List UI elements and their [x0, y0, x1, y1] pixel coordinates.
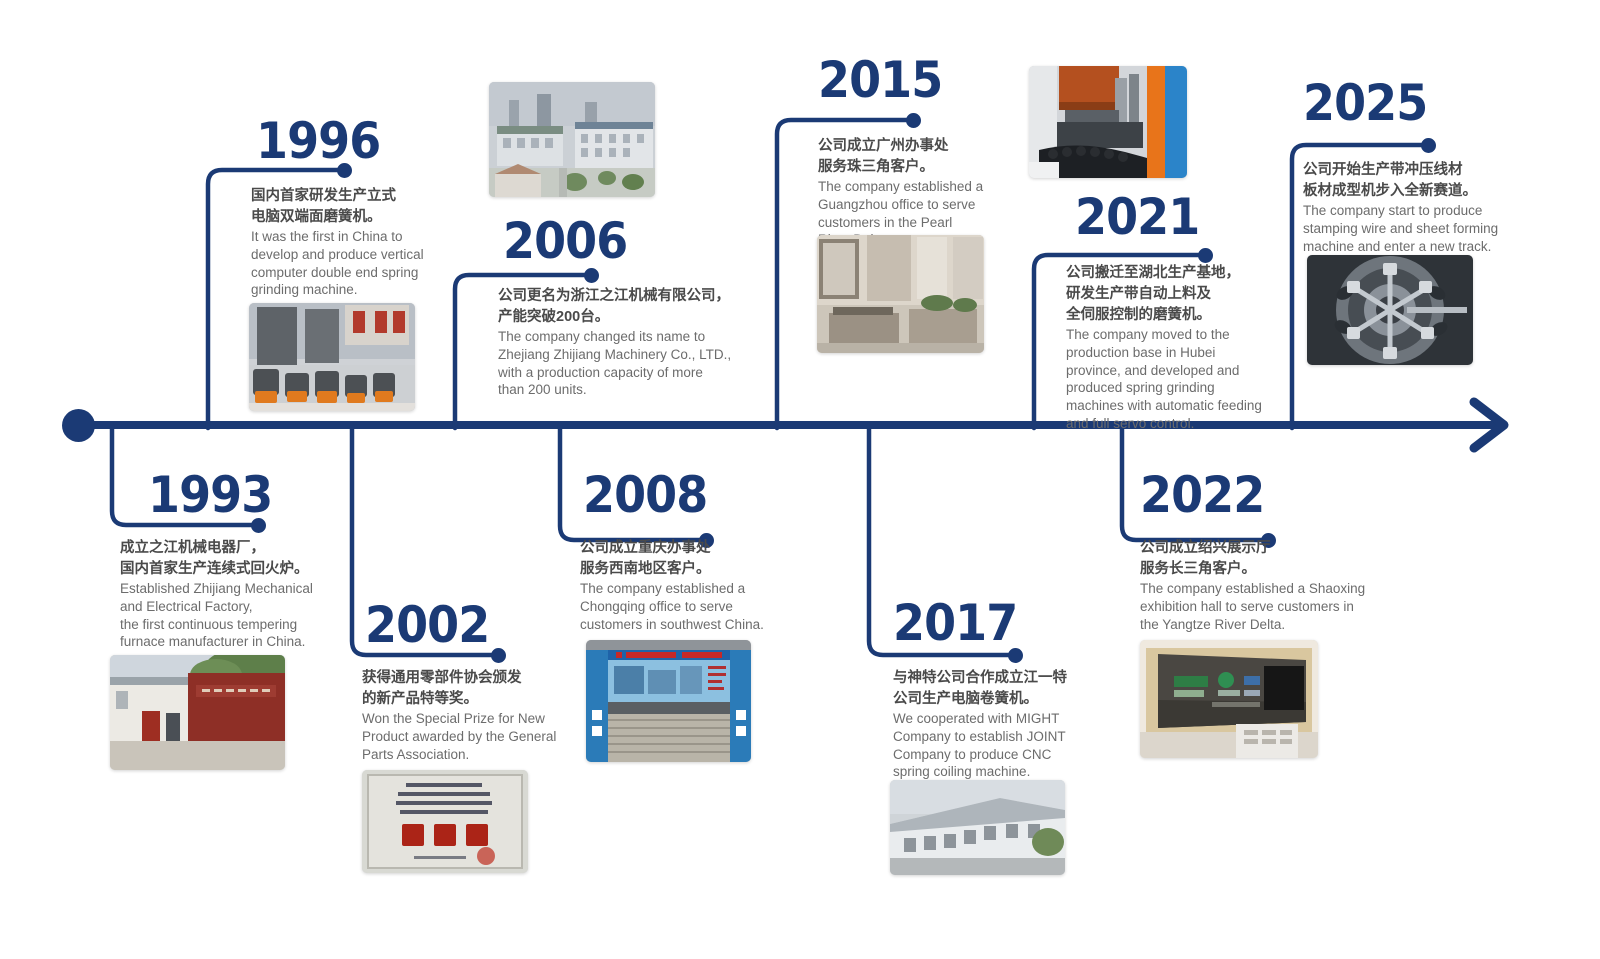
photo-plant-building-2017: [890, 780, 1065, 875]
event-1993-desc-cn: 成立之江机械电器厂， 国内首家生产连续式回火炉。: [120, 538, 350, 580]
connector-dot-2006: [584, 268, 599, 283]
event-1996-desc-en: It was the first in China to develop and…: [251, 228, 456, 299]
event-2022-desc-en: The company established a Shaoxing exhib…: [1140, 580, 1390, 633]
year-label-2002: 2002: [365, 600, 489, 650]
event-2017-desc-cn: 与神特公司合作成立江一特 公司生产电脑卷簧机。: [893, 668, 1093, 710]
event-2017-desc-en: We cooperated with MIGHT Company to esta…: [893, 710, 1093, 781]
event-2022-text: 公司成立绍兴展示厅 服务长三角客户。 The company establish…: [1140, 538, 1390, 633]
event-2017-text: 与神特公司合作成立江一特 公司生产电脑卷簧机。 We cooperated wi…: [893, 668, 1093, 781]
event-2002-desc-en: Won the Special Prize for New Product aw…: [362, 710, 587, 763]
year-label-2008: 2008: [583, 470, 707, 520]
event-2021: 2021: [1075, 192, 1210, 242]
timeline-infographic: 1996 国内首家研发生产立式 电脑双端面磨簧机。 It was the fir…: [0, 0, 1600, 959]
event-2015: 2015: [818, 55, 953, 105]
year-label-2022: 2022: [1140, 470, 1264, 520]
event-2008: 2008: [583, 470, 718, 520]
year-label-2017: 2017: [893, 598, 1017, 648]
year-label-2015: 2015: [818, 55, 942, 105]
event-1993: 1993: [148, 470, 283, 520]
event-2021-text: 公司搬迁至湖北生产基地， 研发生产带自动上料及 全伺服控制的磨簧机。 The c…: [1066, 263, 1281, 433]
year-label-2006: 2006: [503, 216, 627, 266]
event-2002-text: 获得通用零部件协会颁发 的新产品特等奖。 Won the Special Pri…: [362, 668, 587, 763]
photo-servo-machine-2021: [1029, 66, 1187, 178]
event-2021-desc-en: The company moved to the production base…: [1066, 326, 1281, 433]
event-1996-desc-cn: 国内首家研发生产立式 电脑双端面磨簧机。: [251, 186, 456, 228]
photo-forming-machine-2025: [1307, 255, 1473, 365]
event-2022-desc-cn: 公司成立绍兴展示厅 服务长三角客户。: [1140, 538, 1390, 580]
event-2008-text: 公司成立重庆办事处 服务西南地区客户。 The company establis…: [580, 538, 800, 633]
event-2006-desc-cn: 公司更名为浙江之江机械有限公司， 产能突破200台。: [498, 286, 748, 328]
year-label-1993: 1993: [148, 470, 272, 520]
year-label-1996: 1996: [256, 116, 380, 166]
photo-factory-gate-1993: [110, 655, 285, 770]
year-label-2021: 2021: [1075, 192, 1199, 242]
event-2025-desc-cn: 公司开始生产带冲压线材 板材成型机步入全新赛道。: [1303, 160, 1523, 202]
event-2008-desc-en: The company established a Chongqing offi…: [580, 580, 800, 633]
event-2025: 2025: [1303, 78, 1438, 128]
event-2021-desc-cn: 公司搬迁至湖北生产基地， 研发生产带自动上料及 全伺服控制的磨簧机。: [1066, 263, 1281, 326]
event-1996: 1996: [256, 116, 391, 166]
photo-workshop-machines-1996: [249, 303, 415, 411]
photo-chongqing-office-2008: [586, 640, 751, 762]
timeline-start-dot: [62, 409, 95, 442]
photo-guangzhou-office-2015: [817, 235, 984, 353]
event-2022: 2022: [1140, 470, 1275, 520]
connector-dot-2015: [906, 113, 921, 128]
event-2006-desc-en: The company changed its name to Zhejiang…: [498, 328, 748, 399]
event-2006: 2006: [503, 216, 638, 266]
timeline-arrow-right-icon: [1468, 396, 1528, 454]
connector-dot-2002: [491, 648, 506, 663]
event-2006-text: 公司更名为浙江之江机械有限公司， 产能突破200台。 The company c…: [498, 286, 748, 399]
connector-dot-2021: [1198, 248, 1213, 263]
photo-factory-aerial-2006: [489, 82, 655, 197]
event-2002-desc-cn: 获得通用零部件协会颁发 的新产品特等奖。: [362, 668, 587, 710]
event-2025-text: 公司开始生产带冲压线材 板材成型机步入全新赛道。 The company sta…: [1303, 160, 1523, 255]
year-label-2025: 2025: [1303, 78, 1427, 128]
event-2008-desc-cn: 公司成立重庆办事处 服务西南地区客户。: [580, 538, 800, 580]
connector-dot-2025: [1421, 138, 1436, 153]
photo-showroom-2022: [1140, 640, 1318, 758]
event-2025-desc-en: The company start to produce stamping wi…: [1303, 202, 1523, 255]
event-1996-text: 国内首家研发生产立式 电脑双端面磨簧机。 It was the first in…: [251, 186, 456, 299]
event-2002: 2002: [365, 600, 500, 650]
event-2015-text: 公司成立广州办事处 服务珠三角客户。 The company establish…: [818, 136, 1018, 249]
event-1993-desc-en: Established Zhijiang Mechanical and Elec…: [120, 580, 350, 651]
event-2015-desc-cn: 公司成立广州办事处 服务珠三角客户。: [818, 136, 1018, 178]
photo-award-certificate-2002: [362, 770, 528, 873]
event-1993-text: 成立之江机械电器厂， 国内首家生产连续式回火炉。 Established Zhi…: [120, 538, 350, 651]
event-2017: 2017: [893, 598, 1028, 648]
